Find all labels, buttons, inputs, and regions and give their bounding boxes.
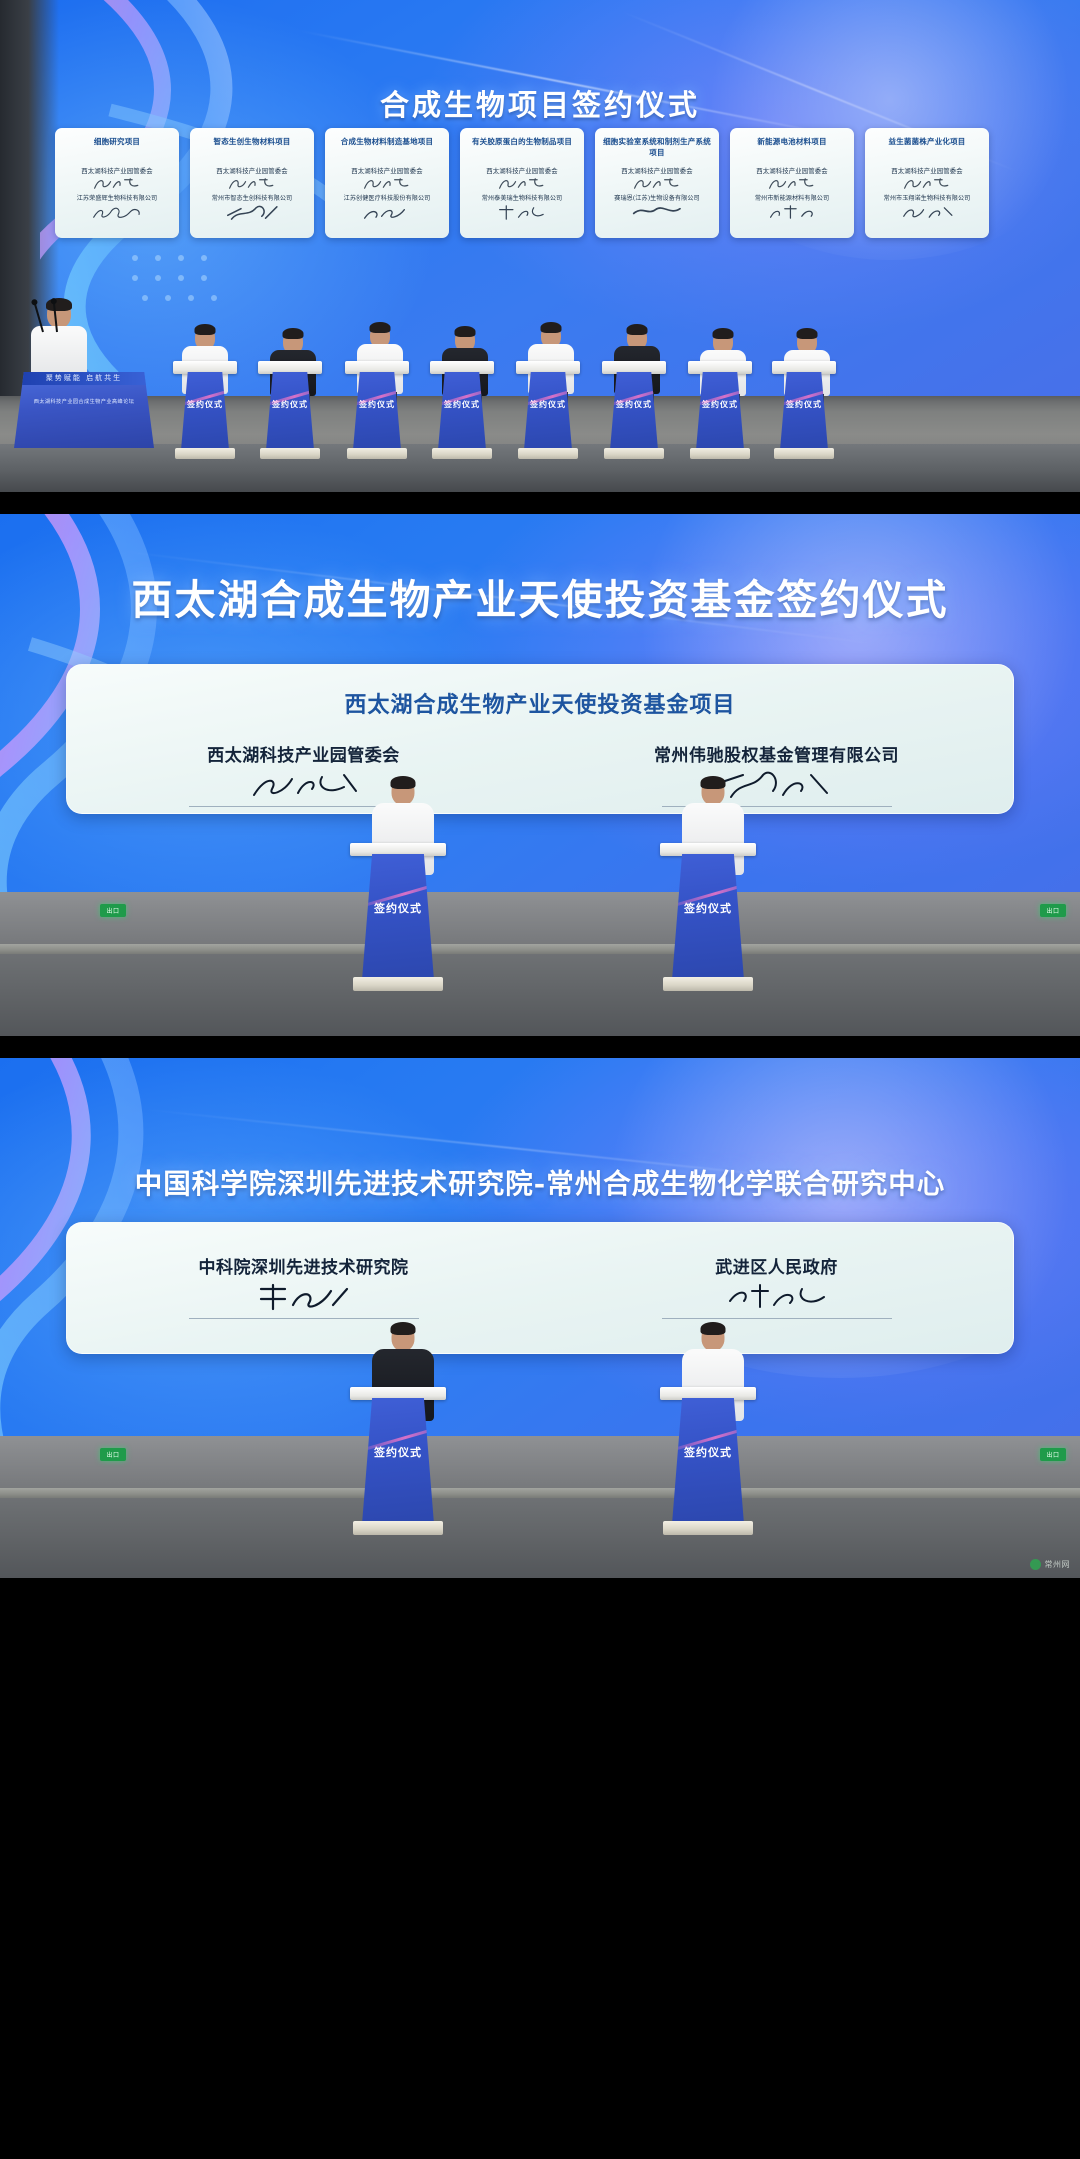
podium-body: 签约仪式 <box>524 372 572 450</box>
signature-mark <box>629 176 685 191</box>
signing-podium: 签约仪式 <box>610 372 658 450</box>
stage-step <box>0 944 1080 954</box>
podium-label: 签约仪式 <box>181 399 229 409</box>
podium-label: 签约仪式 <box>438 399 486 409</box>
signing-podium: 签约仪式 <box>438 372 486 450</box>
agreement-card-title: 西太湖合成生物产业天使投资基金项目 <box>67 687 1013 719</box>
watermark: 常州网 <box>1030 1559 1071 1570</box>
certificate-party-b: 常州市玉翔诺生物科技有限公司 <box>884 195 971 202</box>
signature-mark <box>899 204 956 221</box>
signing-podium: 签约仪式 <box>362 854 434 980</box>
certificate-party-a: 西太湖科技产业园管委会 <box>486 166 557 175</box>
certificate-project-title: 细胞实验室系统和制剂生产系统项目 <box>601 137 713 159</box>
panel-angel-fund-signing: 西太湖合成生物产业天使投资基金签约仪式 西太湖合成生物产业天使投资基金项目 西太… <box>0 514 1080 1036</box>
podium-body: 签约仪式 <box>672 1398 744 1524</box>
podium-body: 签约仪式 <box>266 372 314 450</box>
signing-podium: 签约仪式 <box>181 372 229 450</box>
podium-label: 签约仪式 <box>610 399 658 409</box>
exit-sign-label: 出口 <box>1046 1450 1059 1459</box>
signature-rule <box>662 1318 892 1319</box>
podium-base <box>353 977 442 991</box>
signing-podium: 签约仪式 <box>353 372 401 450</box>
certificate-party-b: 常州市智态生创科技有限公司 <box>212 195 293 202</box>
lectern-subline: 西太湖科技产业园合成生物产业高峰论坛 <box>14 398 154 405</box>
podium-label: 签约仪式 <box>672 1446 744 1460</box>
exit-sign: 出口 <box>100 904 126 917</box>
podium-base <box>432 448 492 459</box>
podium-base <box>518 448 578 459</box>
podium-label: 签约仪式 <box>696 399 744 409</box>
certificate-project-title: 细胞研究项目 <box>94 137 140 159</box>
podium-base <box>260 448 320 459</box>
podium-body: 签约仪式 <box>181 372 229 450</box>
podium-base <box>347 448 407 459</box>
exit-sign-label: 出口 <box>106 906 119 915</box>
signature-mark <box>629 204 686 221</box>
image-stack: 合成生物项目签约仪式 细胞研究项目 西太湖科技产业园管委会 江苏荣盛辉生物科技有… <box>0 0 1080 2159</box>
certificate-card: 细胞研究项目 西太湖科技产业园管委会 江苏荣盛辉生物科技有限公司 <box>55 128 179 238</box>
signature-mark <box>764 204 821 221</box>
certificate-party-a: 西太湖科技产业园管委会 <box>621 166 692 175</box>
certificate-card: 智态生创生物材料项目 西太湖科技产业园管委会 常州市智态生创科技有限公司 <box>190 128 314 238</box>
signature-mark <box>899 176 955 191</box>
signature-area <box>139 1278 469 1318</box>
signature-mark <box>89 176 145 191</box>
signing-podium: 签约仪式 <box>524 372 572 450</box>
signature-area <box>612 766 942 806</box>
signing-podium: 签约仪式 <box>672 1398 744 1524</box>
signature-rule <box>189 1318 419 1319</box>
signature-mark <box>224 204 281 221</box>
agreement-party-name: 中科院深圳先进技术研究院 <box>139 1253 469 1278</box>
signature-area <box>612 1278 942 1318</box>
certificate-card: 益生菌菌株产业化项目 西太湖科技产业园管委会 常州市玉翔诺生物科技有限公司 <box>865 128 989 238</box>
signature-mark <box>89 204 146 221</box>
certificate-project-title: 益生菌菌株产业化项目 <box>889 137 966 159</box>
signature-mark <box>249 1281 359 1315</box>
certificate-party-a: 西太湖科技产业园管委会 <box>216 166 287 175</box>
signature-mark <box>359 176 415 191</box>
podium-label: 签约仪式 <box>362 1446 434 1460</box>
watermark-logo-icon <box>1030 1559 1041 1570</box>
panel-divider <box>0 492 1080 514</box>
watermark-label: 常州网 <box>1045 1559 1071 1570</box>
signing-podium: 签约仪式 <box>362 1398 434 1524</box>
stage-step <box>0 1488 1080 1498</box>
signature-mark <box>494 204 551 221</box>
podium-base <box>690 448 750 459</box>
exit-sign: 出口 <box>100 1448 126 1461</box>
speaker-lectern: 聚势赋能 启航共生 西太湖科技产业园合成生物产业高峰论坛 <box>14 372 154 448</box>
certificate-project-title: 新能源电池材料项目 <box>757 137 826 159</box>
stage-front-wall <box>0 1436 1080 1488</box>
signing-podium: 签约仪式 <box>266 372 314 450</box>
agreement-party-name: 武进区人民政府 <box>612 1253 942 1278</box>
signature-mark <box>494 176 550 191</box>
signature-mark <box>764 176 820 191</box>
certificate-party-b: 常州市新能源材料有限公司 <box>755 195 829 202</box>
podium-label: 签约仪式 <box>672 902 744 916</box>
podium-body: 签约仪式 <box>780 372 828 450</box>
certificate-project-title: 合成生物材料制造基地项目 <box>341 137 433 159</box>
podium-body: 签约仪式 <box>438 372 486 450</box>
podium-body: 签约仪式 <box>362 854 434 980</box>
exit-sign: 出口 <box>1040 904 1066 917</box>
certificate-card-list: 细胞研究项目 西太湖科技产业园管委会 江苏荣盛辉生物科技有限公司 智态生创生物材… <box>55 128 1020 238</box>
certificate-card: 有关胶原蛋白的生物制品项目 西太湖科技产业园管委会 常州泰美瑞生物科技有限公司 <box>460 128 584 238</box>
floor-carpet <box>0 1498 1080 1578</box>
certificate-party-a: 西太湖科技产业园管委会 <box>81 166 152 175</box>
certificate-card: 合成生物材料制造基地项目 西太湖科技产业园管委会 江苏创健医疗科技股份有限公司 <box>325 128 449 238</box>
podium-body: 签约仪式 <box>362 1398 434 1524</box>
panel-signing-ceremony-group: 合成生物项目签约仪式 细胞研究项目 西太湖科技产业园管委会 江苏荣盛辉生物科技有… <box>0 0 1080 492</box>
certificate-card: 新能源电池材料项目 西太湖科技产业园管委会 常州市新能源材料有限公司 <box>730 128 854 238</box>
exit-sign-label: 出口 <box>106 1450 119 1459</box>
certificate-project-title: 有关胶原蛋白的生物制品项目 <box>472 137 572 159</box>
certificate-card: 细胞实验室系统和制剂生产系统项目 西太湖科技产业园管委会 赛瑞恩(江苏)生物设备… <box>595 128 719 238</box>
certificate-party-a: 西太湖科技产业园管委会 <box>891 166 962 175</box>
floor-carpet <box>0 954 1080 1036</box>
agreement-card: 中科院深圳先进技术研究院 武进区人民政府 <box>66 1222 1014 1354</box>
signature-mark <box>244 769 364 803</box>
certificate-project-title: 智态生创生物材料项目 <box>214 137 291 159</box>
podium-base <box>663 1521 752 1535</box>
podium-base <box>663 977 752 991</box>
certificate-party-b: 常州泰美瑞生物科技有限公司 <box>482 195 563 202</box>
podium-base <box>353 1521 442 1535</box>
lectern-slogan: 聚势赋能 启航共生 <box>14 373 154 383</box>
podium-base <box>175 448 235 459</box>
panel2-title: 西太湖合成生物产业天使投资基金签约仪式 <box>0 566 1080 626</box>
signing-podium: 签约仪式 <box>672 854 744 980</box>
podium-base <box>774 448 834 459</box>
agreement-party: 常州伟驰股权基金管理有限公司 <box>612 741 942 807</box>
podium-label: 签约仪式 <box>362 902 434 916</box>
signing-podium: 签约仪式 <box>696 372 744 450</box>
agreement-party: 中科院深圳先进技术研究院 <box>139 1253 469 1319</box>
exit-sign: 出口 <box>1040 1448 1066 1461</box>
panel3-title: 中国科学院深圳先进技术研究院-常州合成生物化学联合研究中心 <box>0 1161 1080 1201</box>
exit-sign-label: 出口 <box>1046 906 1059 915</box>
panel-divider <box>0 1036 1080 1058</box>
podium-label: 签约仪式 <box>266 399 314 409</box>
podium-body: 签约仪式 <box>610 372 658 450</box>
signature-mark <box>224 176 280 191</box>
agreement-party-name: 常州伟驰股权基金管理有限公司 <box>612 741 942 766</box>
certificate-party-a: 西太湖科技产业园管委会 <box>756 166 827 175</box>
signature-mark <box>722 1281 832 1315</box>
stage-front-wall <box>0 892 1080 944</box>
signing-podium: 签约仪式 <box>780 372 828 450</box>
podium-label: 签约仪式 <box>353 399 401 409</box>
agreement-party-name: 西太湖科技产业园管委会 <box>139 741 469 766</box>
panel1-title: 合成生物项目签约仪式 <box>0 82 1080 124</box>
podium-label: 签约仪式 <box>780 399 828 409</box>
podium-body: 签约仪式 <box>672 854 744 980</box>
podium-base <box>604 448 664 459</box>
podium-label: 签约仪式 <box>524 399 572 409</box>
podium-body: 签约仪式 <box>353 372 401 450</box>
certificate-party-b: 江苏荣盛辉生物科技有限公司 <box>77 195 158 202</box>
panel-joint-research-center-signing: 中国科学院深圳先进技术研究院-常州合成生物化学联合研究中心 中科院深圳先进技术研… <box>0 1058 1080 1578</box>
certificate-party-b: 赛瑞恩(江苏)生物设备有限公司 <box>614 195 699 202</box>
signature-mark <box>359 204 416 221</box>
certificate-party-b: 江苏创健医疗科技股份有限公司 <box>344 195 431 202</box>
podium-body: 签约仪式 <box>696 372 744 450</box>
agreement-card: 西太湖合成生物产业天使投资基金项目 西太湖科技产业园管委会 常州伟驰股权基金管理… <box>66 664 1014 814</box>
certificate-party-a: 西太湖科技产业园管委会 <box>351 166 422 175</box>
agreement-party: 武进区人民政府 <box>612 1253 942 1319</box>
